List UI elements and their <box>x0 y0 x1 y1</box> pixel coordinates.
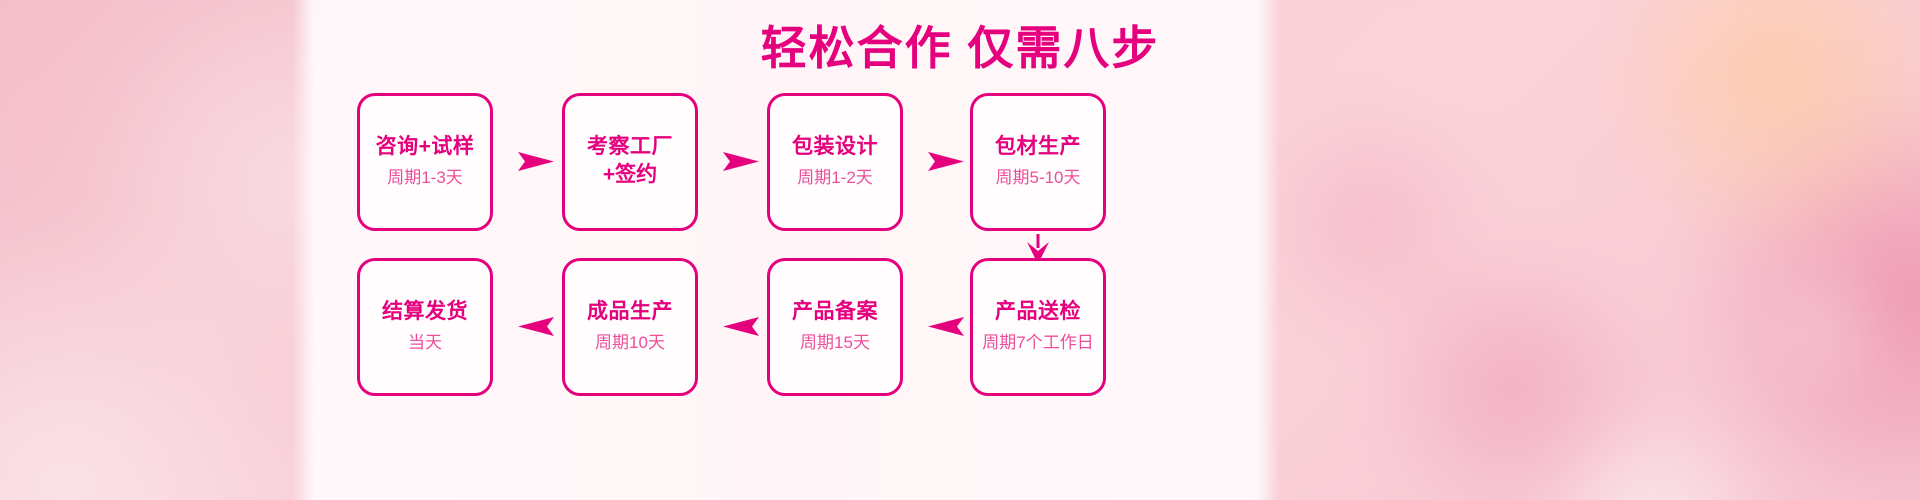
step-box-1[interactable]: 咨询+试样 周期1-3天 <box>357 93 493 231</box>
step-8-duration: 当天 <box>408 332 442 353</box>
arrow-3-4 <box>924 140 968 184</box>
arrow-5-6 <box>924 305 968 349</box>
arrow-7-8 <box>514 305 558 349</box>
step-1-duration: 周期1-3天 <box>387 167 463 188</box>
step-box-8[interactable]: 结算发货 当天 <box>357 258 493 396</box>
step-3-title: 包装设计 <box>792 135 878 160</box>
flow-content: 轻松合作 仅需八步 咨询+试样 周期1-3天 考察工厂 +签约 包装设计 周期1… <box>0 0 1920 500</box>
step-4-title: 包材生产 <box>995 135 1081 160</box>
step-5-duration: 周期7个工作日 <box>982 332 1093 353</box>
step-box-5[interactable]: 产品送检 周期7个工作日 <box>970 258 1106 396</box>
step-6-title: 产品备案 <box>792 300 878 325</box>
step-7-duration: 周期10天 <box>595 332 665 353</box>
step-3-duration: 周期1-2天 <box>797 167 873 188</box>
page-title: 轻松合作 仅需八步 <box>0 22 1920 75</box>
step-2-title: 考察工厂 <box>587 135 673 160</box>
arrow-6-7 <box>719 305 763 349</box>
step-2-duration: +签约 <box>603 162 657 188</box>
step-8-title: 结算发货 <box>382 300 468 325</box>
step-box-7[interactable]: 成品生产 周期10天 <box>562 258 698 396</box>
banner-stage: 轻松合作 仅需八步 咨询+试样 周期1-3天 考察工厂 +签约 包装设计 周期1… <box>0 0 1920 500</box>
step-1-title: 咨询+试样 <box>376 135 475 160</box>
arrow-2-3 <box>719 140 763 184</box>
step-4-duration: 周期5-10天 <box>995 167 1080 188</box>
step-box-3[interactable]: 包装设计 周期1-2天 <box>767 93 903 231</box>
step-5-title: 产品送检 <box>995 300 1081 325</box>
step-box-4[interactable]: 包材生产 周期5-10天 <box>970 93 1106 231</box>
step-6-duration: 周期15天 <box>800 332 870 353</box>
step-7-title: 成品生产 <box>587 300 673 325</box>
step-box-6[interactable]: 产品备案 周期15天 <box>767 258 903 396</box>
arrow-1-2 <box>514 140 558 184</box>
step-box-2[interactable]: 考察工厂 +签约 <box>562 93 698 231</box>
